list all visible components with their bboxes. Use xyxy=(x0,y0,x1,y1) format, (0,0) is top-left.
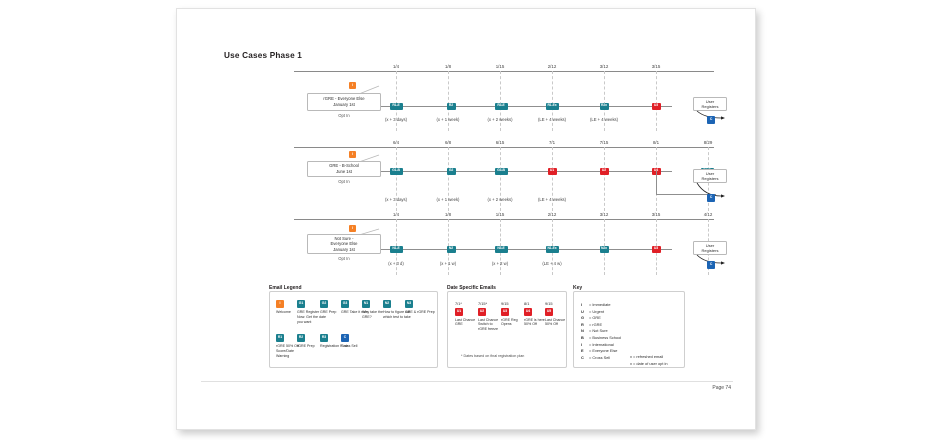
timeline-node[interactable]: N3-E xyxy=(495,246,508,253)
dse-date: 9/15 xyxy=(545,301,567,306)
gap-label: (LE + 4 weeks) xyxy=(538,197,566,202)
email-legend-panel: IWelcomeG1GRE Register Now: Get the date… xyxy=(269,291,438,368)
cross-sell-node[interactable]: C xyxy=(707,116,715,124)
key-letter: E xyxy=(581,348,584,353)
email-legend-chip[interactable]: N1 xyxy=(362,300,370,308)
tick-label: 3/15 xyxy=(652,212,661,217)
key-side-note: x = refreshed email xyxy=(630,354,663,359)
lane-callout: rGRE - Everyone ElseJanuary 1st xyxy=(307,93,381,111)
key-row-text: = Immediate xyxy=(589,302,611,307)
timeline-node[interactable]: N2x xyxy=(600,246,609,253)
tick-label: 3/15 xyxy=(652,64,661,69)
dse-item[interactable]: 9/15U3rGRE Reg Opens xyxy=(501,301,523,327)
cross-sell-arrow xyxy=(695,181,735,211)
tick-label: 2/12 xyxy=(548,212,557,217)
email-legend-chip[interactable]: N3 xyxy=(405,300,413,308)
footer-divider xyxy=(201,381,733,382)
gap-label: (x + 3 days) xyxy=(385,117,407,122)
key-row-text: = Urgent xyxy=(589,309,604,314)
timeline-node[interactable]: R2x xyxy=(600,103,609,110)
dse-date: 9/15 xyxy=(501,301,523,306)
timeline-node[interactable]: N2 xyxy=(447,246,456,253)
branch-line-vertical xyxy=(656,171,657,195)
timeline-node[interactable]: U1 xyxy=(548,168,557,175)
timeline-tick xyxy=(604,71,605,131)
email-legend-label: Cross Sell xyxy=(341,344,371,349)
key-letter: B xyxy=(581,335,584,340)
email-legend-chip[interactable]: C xyxy=(341,334,349,342)
cross-sell-arrow xyxy=(695,253,735,283)
gap-label: (LE + 4 w) xyxy=(542,261,561,266)
dse-label: rGRE Reg Opens xyxy=(501,318,522,328)
key-letter: U xyxy=(581,309,584,314)
tick-label: 6/8 xyxy=(445,140,451,145)
email-legend-chip[interactable]: R2 xyxy=(297,334,305,342)
gap-label: (x + 2 w) xyxy=(492,261,508,266)
key-row-text: = rGRE xyxy=(589,322,602,327)
timeline-axis xyxy=(294,71,714,72)
timeline-node[interactable]: R2 xyxy=(447,103,456,110)
tick-label: 4/12 xyxy=(704,212,713,217)
document-page: Use Cases Phase 1 1/41/81/152/123/123/15… xyxy=(176,8,756,430)
gap-label: (x + 1 w) xyxy=(440,261,456,266)
key-row-text: = Everyone Else xyxy=(589,348,617,353)
key-letter: G xyxy=(581,315,584,320)
timeline-node[interactable]: G1-B xyxy=(390,168,403,175)
timeline-tick xyxy=(656,71,657,131)
cross-sell-node[interactable]: C xyxy=(707,194,715,202)
email-legend-item[interactable]: N3GRE & rGRE Prep xyxy=(405,300,435,315)
key-side-note: x = date of user opt in xyxy=(630,361,668,366)
optin-label: Opt In xyxy=(338,179,349,184)
email-legend-chip[interactable]: N2 xyxy=(383,300,391,308)
tick-label: 7/1 xyxy=(549,140,555,145)
timeline-tick xyxy=(448,71,449,131)
dse-date: 7/1* xyxy=(455,301,477,306)
email-legend-chip[interactable]: R3 xyxy=(320,334,328,342)
dse-item[interactable]: 7/1*U1Last Chance GRE xyxy=(455,301,477,327)
tick-label: 1/8 xyxy=(445,64,451,69)
tick-label: 1/15 xyxy=(496,212,505,217)
key-letter: N xyxy=(581,328,584,333)
optin-label: Opt In xyxy=(338,113,349,118)
timeline-node[interactable]: U3 xyxy=(652,103,661,110)
timeline-node[interactable]: U3 xyxy=(652,246,661,253)
tick-label: 1/4 xyxy=(393,64,399,69)
email-legend-chip[interactable]: G3 xyxy=(341,300,349,308)
dse-note: * Dates based on final registration plan xyxy=(461,354,524,358)
optin-label: Opt In xyxy=(338,256,349,261)
dse-chip[interactable]: U4 xyxy=(524,308,532,316)
dse-item[interactable]: 9/15U5Last Chance 50% Off xyxy=(545,301,567,327)
timeline-node[interactable]: U2 xyxy=(600,168,609,175)
gap-label: (x + 3 days) xyxy=(385,197,407,202)
tick-label: 6/15 xyxy=(496,140,505,145)
gap-label: (LE + 4 weeks) xyxy=(590,117,618,122)
dse-label: Last Chance GRE xyxy=(455,318,476,328)
tick-label: 6/4 xyxy=(393,140,399,145)
tick-label: 3/12 xyxy=(600,212,609,217)
dse-chip[interactable]: U1 xyxy=(455,308,463,316)
key-panel: I= ImmediateU= UrgentG= GRER= rGREN= Not… xyxy=(573,291,685,368)
timeline-node[interactable]: N1-E xyxy=(390,246,403,253)
email-legend-chip[interactable]: R1 xyxy=(276,334,284,342)
gap-label: (x + 1 week) xyxy=(437,117,460,122)
tick-label: 1/4 xyxy=(393,212,399,217)
flow-line xyxy=(379,171,672,172)
dse-chip[interactable]: U2 xyxy=(478,308,486,316)
dse-date: 7/15* xyxy=(478,301,500,306)
gap-label: (x + 2 weeks) xyxy=(487,117,512,122)
dse-item[interactable]: 7/15*U2Last Chance Switch to rGRE freeze xyxy=(478,301,500,332)
key-letter: C xyxy=(581,355,584,360)
dse-date: 8/1 xyxy=(524,301,546,306)
dse-label: Last Chance Switch to rGRE freeze xyxy=(478,318,499,333)
tick-label: 2/12 xyxy=(548,64,557,69)
tick-label: 1/8 xyxy=(445,212,451,217)
lane-callout: Not Sure -Everyone ElseJanuary 1st xyxy=(307,234,381,254)
cross-sell-node[interactable]: C xyxy=(707,261,715,269)
screenshot-root: Use Cases Phase 1 1/41/81/152/123/123/15… xyxy=(0,0,940,440)
lane-callout: GRE - B-SchoolJune 1st xyxy=(307,161,381,177)
timeline-node[interactable]: N1-Ex xyxy=(546,246,559,253)
timeline-axis xyxy=(294,219,714,220)
page-title: Use Cases Phase 1 xyxy=(224,51,302,60)
tick-label: 3/12 xyxy=(600,64,609,69)
timeline-node[interactable]: R1-E xyxy=(390,103,403,110)
dse-chip[interactable]: U3 xyxy=(501,308,509,316)
dse-label: Last Chance 50% Off xyxy=(545,318,566,328)
dse-chip[interactable]: U5 xyxy=(545,308,553,316)
dse-label: rGRE is here 50% Off xyxy=(524,318,545,328)
timeline-tick xyxy=(604,147,605,211)
gap-label: (x + 3 d) xyxy=(388,261,403,266)
timeline-node[interactable]: G3-B xyxy=(495,168,508,175)
tick-label: 7/15 xyxy=(600,140,609,145)
timeline-tick xyxy=(552,71,553,131)
key-letter: I xyxy=(581,302,582,307)
email-legend-item[interactable]: CCross Sell xyxy=(341,334,371,349)
dse-item[interactable]: 8/1U4rGRE is here 50% Off xyxy=(524,301,546,327)
tick-label: 8/29 xyxy=(704,140,713,145)
email-legend-chip[interactable]: G1 xyxy=(297,300,305,308)
gap-label: (LE + 4 weeks) xyxy=(538,117,566,122)
key-letter: R xyxy=(581,322,584,327)
gap-label: (x + 2 weeks) xyxy=(487,197,512,202)
flow-line xyxy=(379,249,672,250)
email-legend-chip[interactable]: G2 xyxy=(320,300,328,308)
key-row-text: = Cross Sell xyxy=(589,355,610,360)
timeline-node[interactable]: G2 xyxy=(447,168,456,175)
timeline-axis xyxy=(294,147,714,148)
tick-label: 8/1 xyxy=(653,140,659,145)
key-letter: I xyxy=(581,342,582,347)
cross-sell-arrow xyxy=(695,109,735,139)
page-number: Page 74 xyxy=(712,385,731,391)
tick-label: 1/15 xyxy=(496,64,505,69)
email-legend-chip[interactable]: I xyxy=(276,300,284,308)
flow-line xyxy=(379,106,672,107)
gap-label: (x + 1 week) xyxy=(437,197,460,202)
email-legend-label: GRE & rGRE Prep xyxy=(405,310,435,315)
key-row-text: = International xyxy=(589,342,614,347)
timeline-node[interactable]: R3-E xyxy=(495,103,508,110)
key-row-text: = Business School xyxy=(589,335,621,340)
timeline-tick xyxy=(500,71,501,131)
key-row-text: = Not Sure xyxy=(589,328,608,333)
timeline-node[interactable]: R1-Ex xyxy=(546,103,559,110)
key-row-text: = GRE xyxy=(589,315,601,320)
